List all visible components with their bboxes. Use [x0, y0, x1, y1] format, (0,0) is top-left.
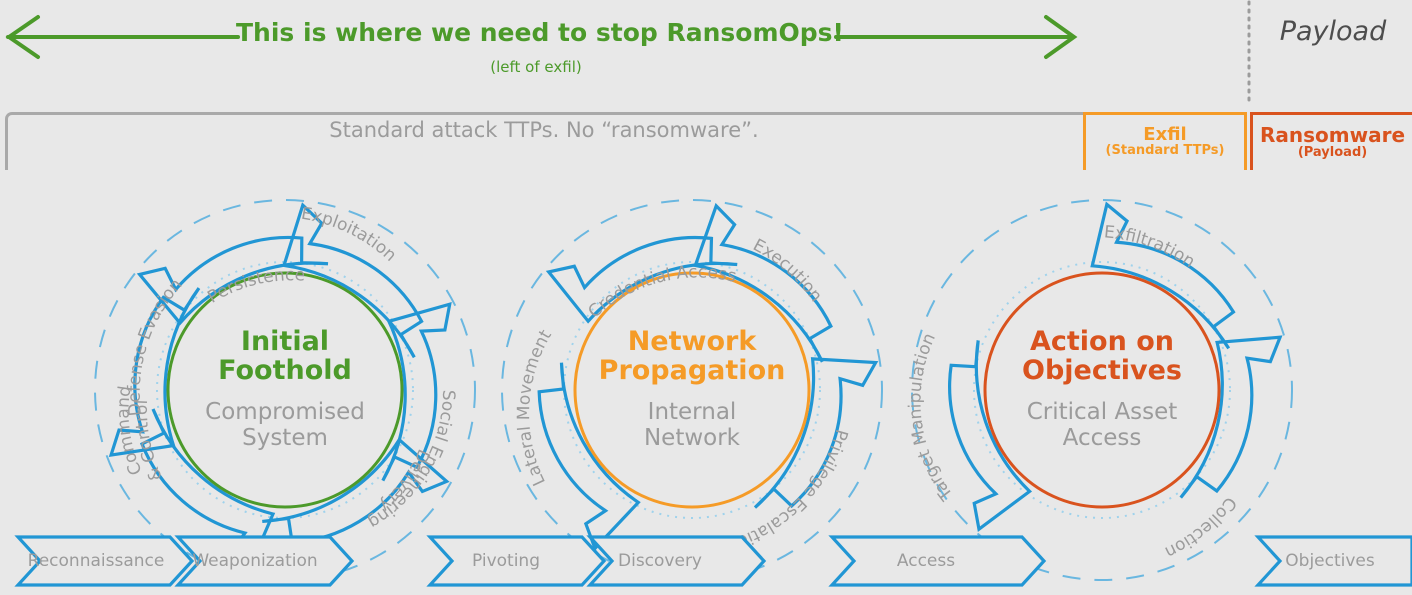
kill-chain-label-objectives[interactable]: Objectives: [1285, 551, 1374, 571]
core-title-line2: Foothold: [218, 355, 352, 386]
core-title-line2: Propagation: [599, 355, 786, 386]
core-subtitle-line2: Access: [1063, 425, 1142, 451]
core-text-network-propagation: Network Propagation Internal Network: [572, 310, 812, 470]
kill-chain-label-access[interactable]: Access: [897, 551, 955, 571]
core-subtitle-line1: Compromised: [205, 399, 365, 425]
kill-chain-label-pivoting[interactable]: Pivoting: [472, 551, 540, 571]
core-subtitle-line1: Critical Asset: [1027, 399, 1178, 425]
kill-chain-label-reconnaissance[interactable]: Reconnaissance: [28, 551, 165, 571]
core-text-action-on-objectives: Action on Objectives Critical Asset Acce…: [982, 310, 1222, 470]
core-subtitle-line2: System: [242, 425, 328, 451]
core-subtitle-line1: Internal: [648, 399, 737, 425]
core-subtitle-line2: Network: [644, 425, 740, 451]
diagram-canvas: This is where we need to stop RansomOps!…: [0, 0, 1412, 595]
ring-label-target-manipulation: Target Manipulation: [905, 330, 957, 504]
ring-label-exfiltration: Exfiltration: [1103, 222, 1198, 272]
ring-label-persistence: Persistence: [204, 265, 305, 308]
kill-chain-label-weaponization[interactable]: Weaponization: [192, 551, 317, 571]
core-title-line1: Action on: [1030, 326, 1174, 357]
attack-lifecycle-wheels: Persistence Exploitation Social Engineer…: [0, 0, 1412, 595]
core-title-line2: Objectives: [1022, 355, 1182, 386]
core-text-initial-foothold: Initial Foothold Compromised System: [165, 310, 405, 470]
core-title-line1: Network: [628, 326, 757, 357]
core-title-line1: Initial: [241, 326, 329, 357]
ring-label-lateral-movement: Lateral Movement: [514, 326, 556, 488]
kill-chain-label-discovery[interactable]: Discovery: [618, 551, 702, 571]
